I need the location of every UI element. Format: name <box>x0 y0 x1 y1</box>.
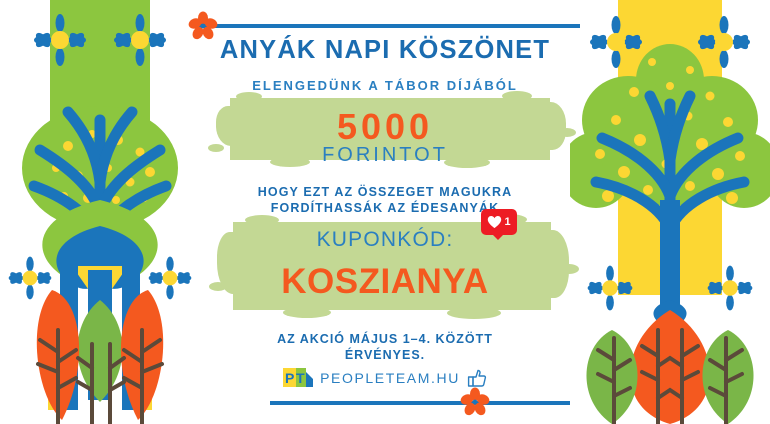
offer-message-line-2: FORDÍTHASSÁK AZ ÉDESANYÁK <box>185 200 585 216</box>
thumbs-up-icon <box>467 368 487 388</box>
coupon-content: ANYÁK NAPI KÖSZÖNET ELENGEDÜNK A TÁBOR D… <box>185 0 585 424</box>
heart-icon <box>487 215 502 229</box>
coupon-code-value[interactable]: KOSZIANYA <box>185 262 585 302</box>
folk-tree-icon-left <box>0 0 200 424</box>
page-title: ANYÁK NAPI KÖSZÖNET <box>185 36 585 65</box>
promo-poster: ANYÁK NAPI KÖSZÖNET ELENGEDÜNK A TÁBOR D… <box>0 0 770 424</box>
offer-subtitle: ELENGEDÜNK A TÁBOR DÍJÁBÓL <box>185 78 585 93</box>
left-decoration <box>0 0 200 424</box>
like-count: 1 <box>504 217 510 228</box>
right-decoration <box>570 0 770 424</box>
svg-text:P: P <box>285 370 294 386</box>
discount-amount: 5000 <box>185 106 585 148</box>
brand-footer[interactable]: P T PEOPLETEAM.HU <box>185 366 585 390</box>
offer-message-line-1: HOGY EZT AZ ÖSSZEGET MAGUKRA <box>185 184 585 200</box>
brand-name: PEOPLETEAM.HU <box>320 370 460 386</box>
validity-period: AZ AKCIÓ MÁJUS 1–4. KÖZÖTT ÉRVÉNYES. <box>185 331 585 363</box>
discount-currency: FORINTOT <box>185 144 585 167</box>
status-badge: 1 <box>481 209 517 235</box>
validity-line-2: ÉRVÉNYES. <box>185 347 585 363</box>
peopleteam-logo-icon: P T <box>283 366 313 390</box>
offer-message: HOGY EZT AZ ÖSSZEGET MAGUKRA FORDÍTHASSÁ… <box>185 184 585 216</box>
folk-tree-icon-right <box>570 0 770 424</box>
validity-line-1: AZ AKCIÓ MÁJUS 1–4. KÖZÖTT <box>185 331 585 347</box>
svg-text:T: T <box>296 370 305 386</box>
coupon-code-label: KUPONKÓD: <box>185 228 585 252</box>
